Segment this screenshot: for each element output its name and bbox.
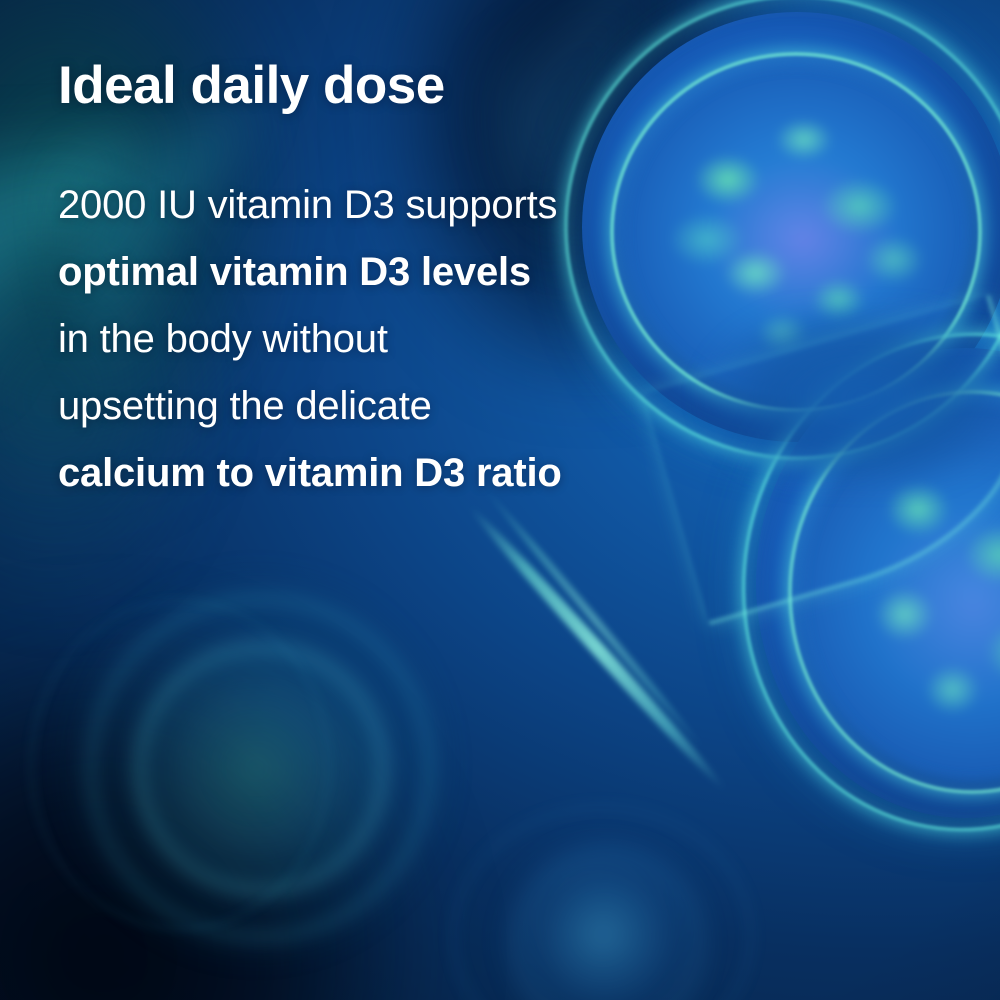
body-line-5: calcium to vitamin D3 ratio — [58, 440, 720, 507]
blurred-cell-bottom-left — [52, 560, 462, 970]
promo-image-canvas: Ideal daily dose 2000 IU vitamin D3 supp… — [0, 0, 1000, 1000]
body-line-3: in the body without — [58, 306, 720, 373]
body-copy: 2000 IU vitamin D3 supports optimal vita… — [58, 172, 720, 507]
headline: Ideal daily dose — [58, 58, 720, 114]
text-block: Ideal daily dose 2000 IU vitamin D3 supp… — [0, 0, 720, 507]
body-line-1: 2000 IU vitamin D3 supports — [58, 172, 720, 239]
body-line-4: upsetting the delicate — [58, 373, 720, 440]
body-line-2: optimal vitamin D3 levels — [58, 239, 720, 306]
